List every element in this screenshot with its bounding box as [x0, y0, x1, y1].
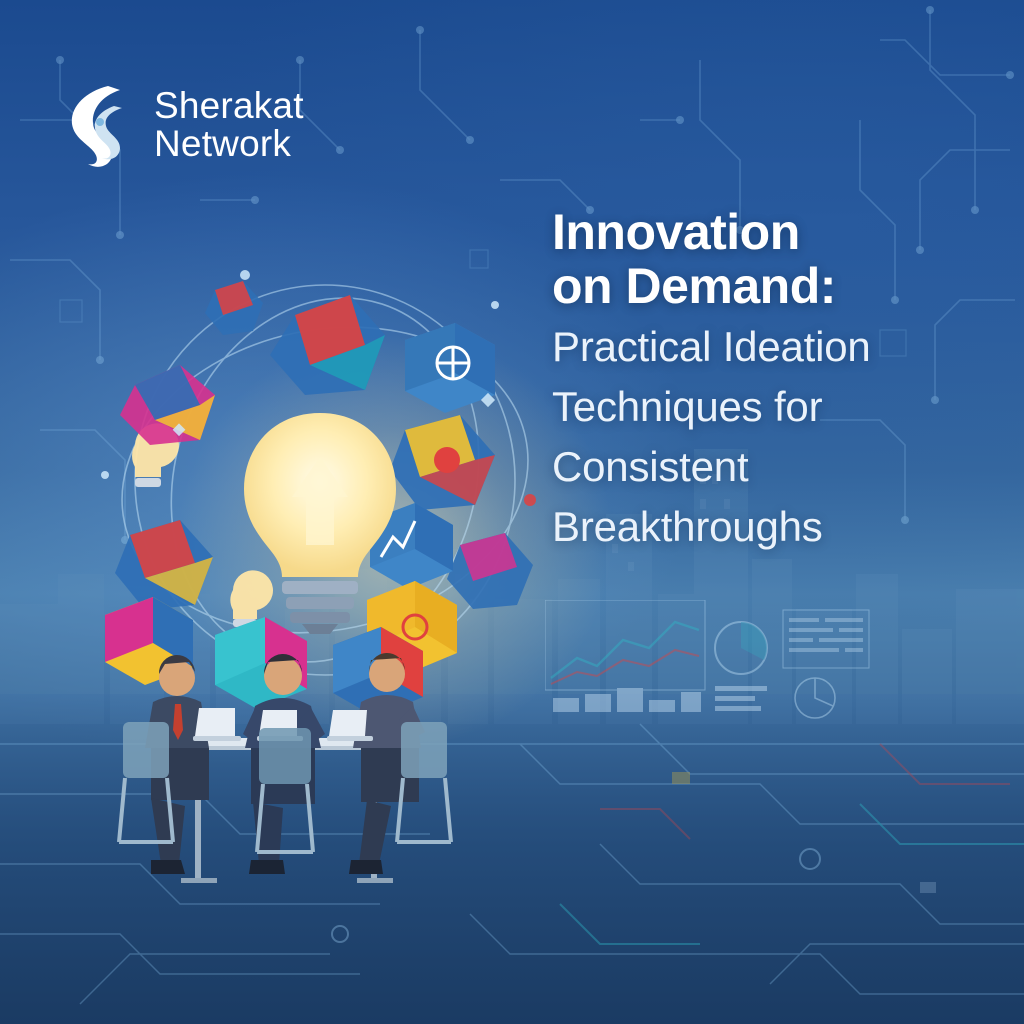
laptop-left [193, 708, 241, 741]
cube-icon-yellow-right [367, 581, 457, 673]
headline-block: Innovation on Demand: Practical Ideation… [552, 205, 972, 553]
cube-icon-magenta [105, 597, 193, 685]
floating-polygon-cluster [75, 245, 595, 715]
cube-icon-gear [405, 323, 495, 413]
polygon-gem-top-center [270, 295, 385, 395]
small-lightbulb-icon-left [132, 423, 179, 487]
polygon-gem-left-low [115, 520, 213, 610]
subheadline-line3: Consistent [552, 441, 972, 493]
headline-line1: Innovation [552, 205, 972, 259]
glowing-lightbulb-icon [230, 405, 410, 635]
cube-icon-teal-bottom [215, 617, 307, 709]
sparkle-icons [101, 270, 536, 506]
person-left [145, 655, 209, 874]
polygon-gem-right [390, 415, 495, 510]
reflective-floor [0, 694, 1024, 1024]
three-people-at-table [95, 630, 555, 920]
chair-left [119, 722, 173, 842]
polygon-gem-small-top [205, 281, 263, 335]
headline-line2: on Demand: [552, 259, 972, 313]
floor-circuit-grid [0, 684, 1024, 1024]
poster-canvas: Sherakat Network Innovation on Demand: P… [0, 0, 1024, 1024]
data-dashboard-overlay [545, 600, 875, 730]
polygon-gem-top-left [120, 365, 215, 445]
brand-logo[interactable]: Sherakat Network [64, 82, 304, 168]
person-center [243, 654, 325, 874]
laptop-center [257, 710, 303, 741]
lightbulb-glow [175, 330, 615, 750]
brand-name: Sherakat Network [154, 87, 304, 164]
subheadline-line1: Practical Ideation [552, 321, 972, 373]
brand-name-line2: Network [154, 125, 304, 163]
chair-right [397, 722, 451, 842]
swoosh-leaf-logo-icon [64, 82, 138, 168]
cube-icon-redblue-bottom [333, 627, 423, 715]
polygon-gem-far-right [447, 533, 533, 609]
person-right [349, 653, 425, 874]
subheadline-line2: Techniques for [552, 381, 972, 433]
brand-name-line1: Sherakat [154, 87, 304, 125]
small-lightbulb-icon-bottom [230, 570, 273, 627]
cube-icon-chart [370, 503, 453, 589]
laptop-right [327, 710, 373, 741]
subheadline-line4: Breakthroughs [552, 501, 972, 553]
chair-center [257, 728, 313, 852]
